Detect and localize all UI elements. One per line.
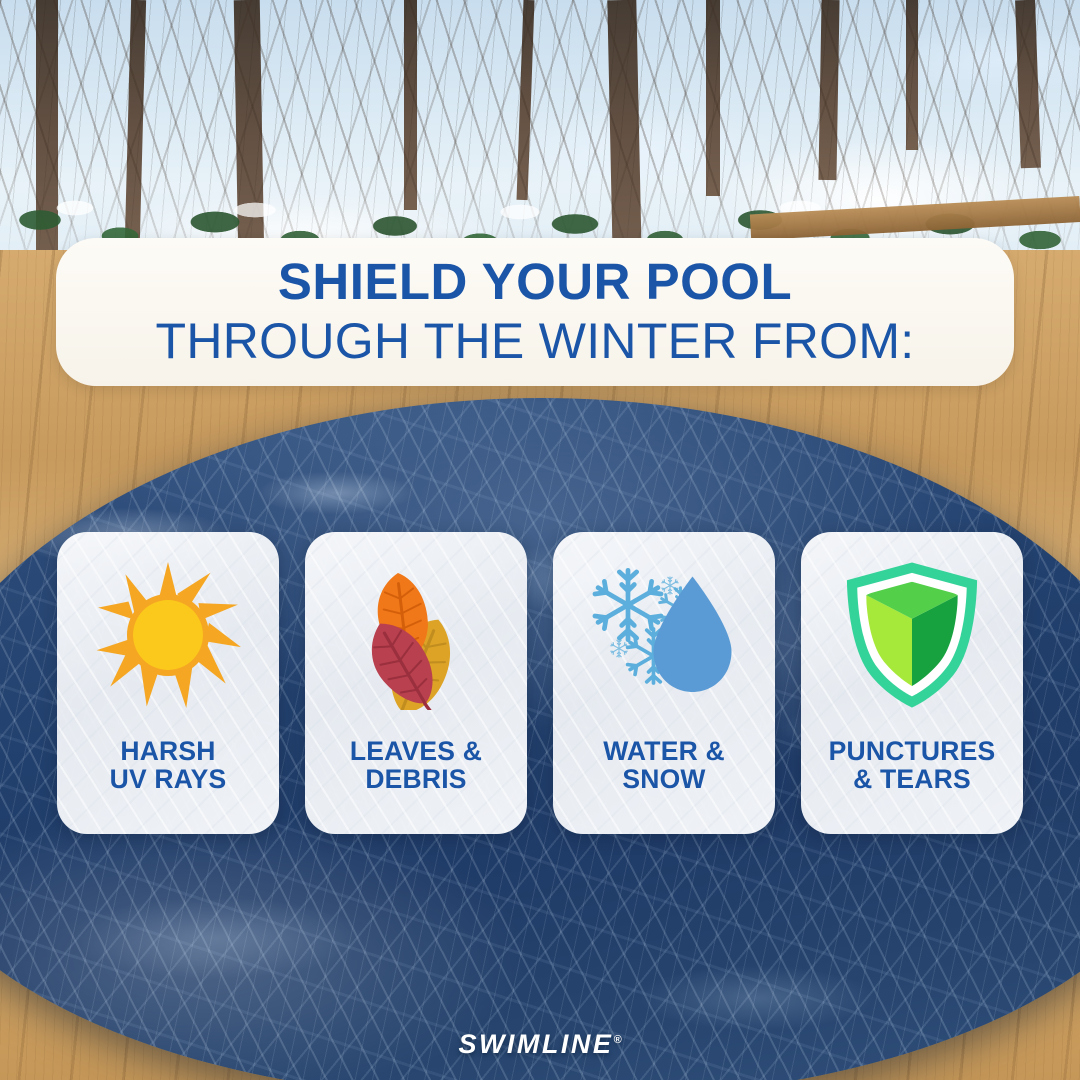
snowy-forest-background [0, 0, 1080, 258]
trademark-symbol: ® [613, 1034, 621, 1046]
feature-label-line-1: PUNCTURES [829, 736, 996, 766]
shield-cube-icon [801, 532, 1023, 737]
feature-label-line-2: DEBRIS [365, 764, 466, 794]
feature-card-list: HARSH UV RAYS [57, 532, 1023, 834]
feature-card-harsh-uv-rays[interactable]: HARSH UV RAYS [57, 532, 279, 834]
feature-label-line-2: SNOW [622, 764, 705, 794]
feature-label-line-1: HARSH [120, 736, 215, 766]
feature-card-punctures-tears[interactable]: PUNCTURES & TEARS [801, 532, 1023, 834]
feature-card-label: WATER & SNOW [597, 737, 731, 793]
feature-card-water-snow[interactable]: WATER & SNOW [553, 532, 775, 834]
logo-wordmark: SWIMLINE [458, 1029, 613, 1059]
feature-label-line-2: UV RAYS [110, 764, 227, 794]
feature-card-label: LEAVES & DEBRIS [344, 737, 488, 793]
leaves-icon [305, 532, 527, 737]
feature-card-label: HARSH UV RAYS [104, 737, 233, 793]
headline-banner: SHIELD YOUR POOL THROUGH THE WINTER FROM… [56, 238, 1014, 386]
feature-label-line-2: & TEARS [853, 764, 971, 794]
feature-label-line-1: LEAVES & [350, 736, 482, 766]
feature-card-label: PUNCTURES & TEARS [823, 737, 1002, 793]
feature-card-leaves-debris[interactable]: LEAVES & DEBRIS [305, 532, 527, 834]
sun-icon [57, 532, 279, 737]
swimline-logo: SWIMLINE® [0, 1029, 1080, 1060]
headline-line-2: THROUGH THE WINTER FROM: [155, 313, 914, 369]
headline-line-1: SHIELD YOUR POOL [278, 256, 792, 307]
snowflake-droplet-icon [553, 532, 775, 737]
feature-label-line-1: WATER & [603, 736, 725, 766]
